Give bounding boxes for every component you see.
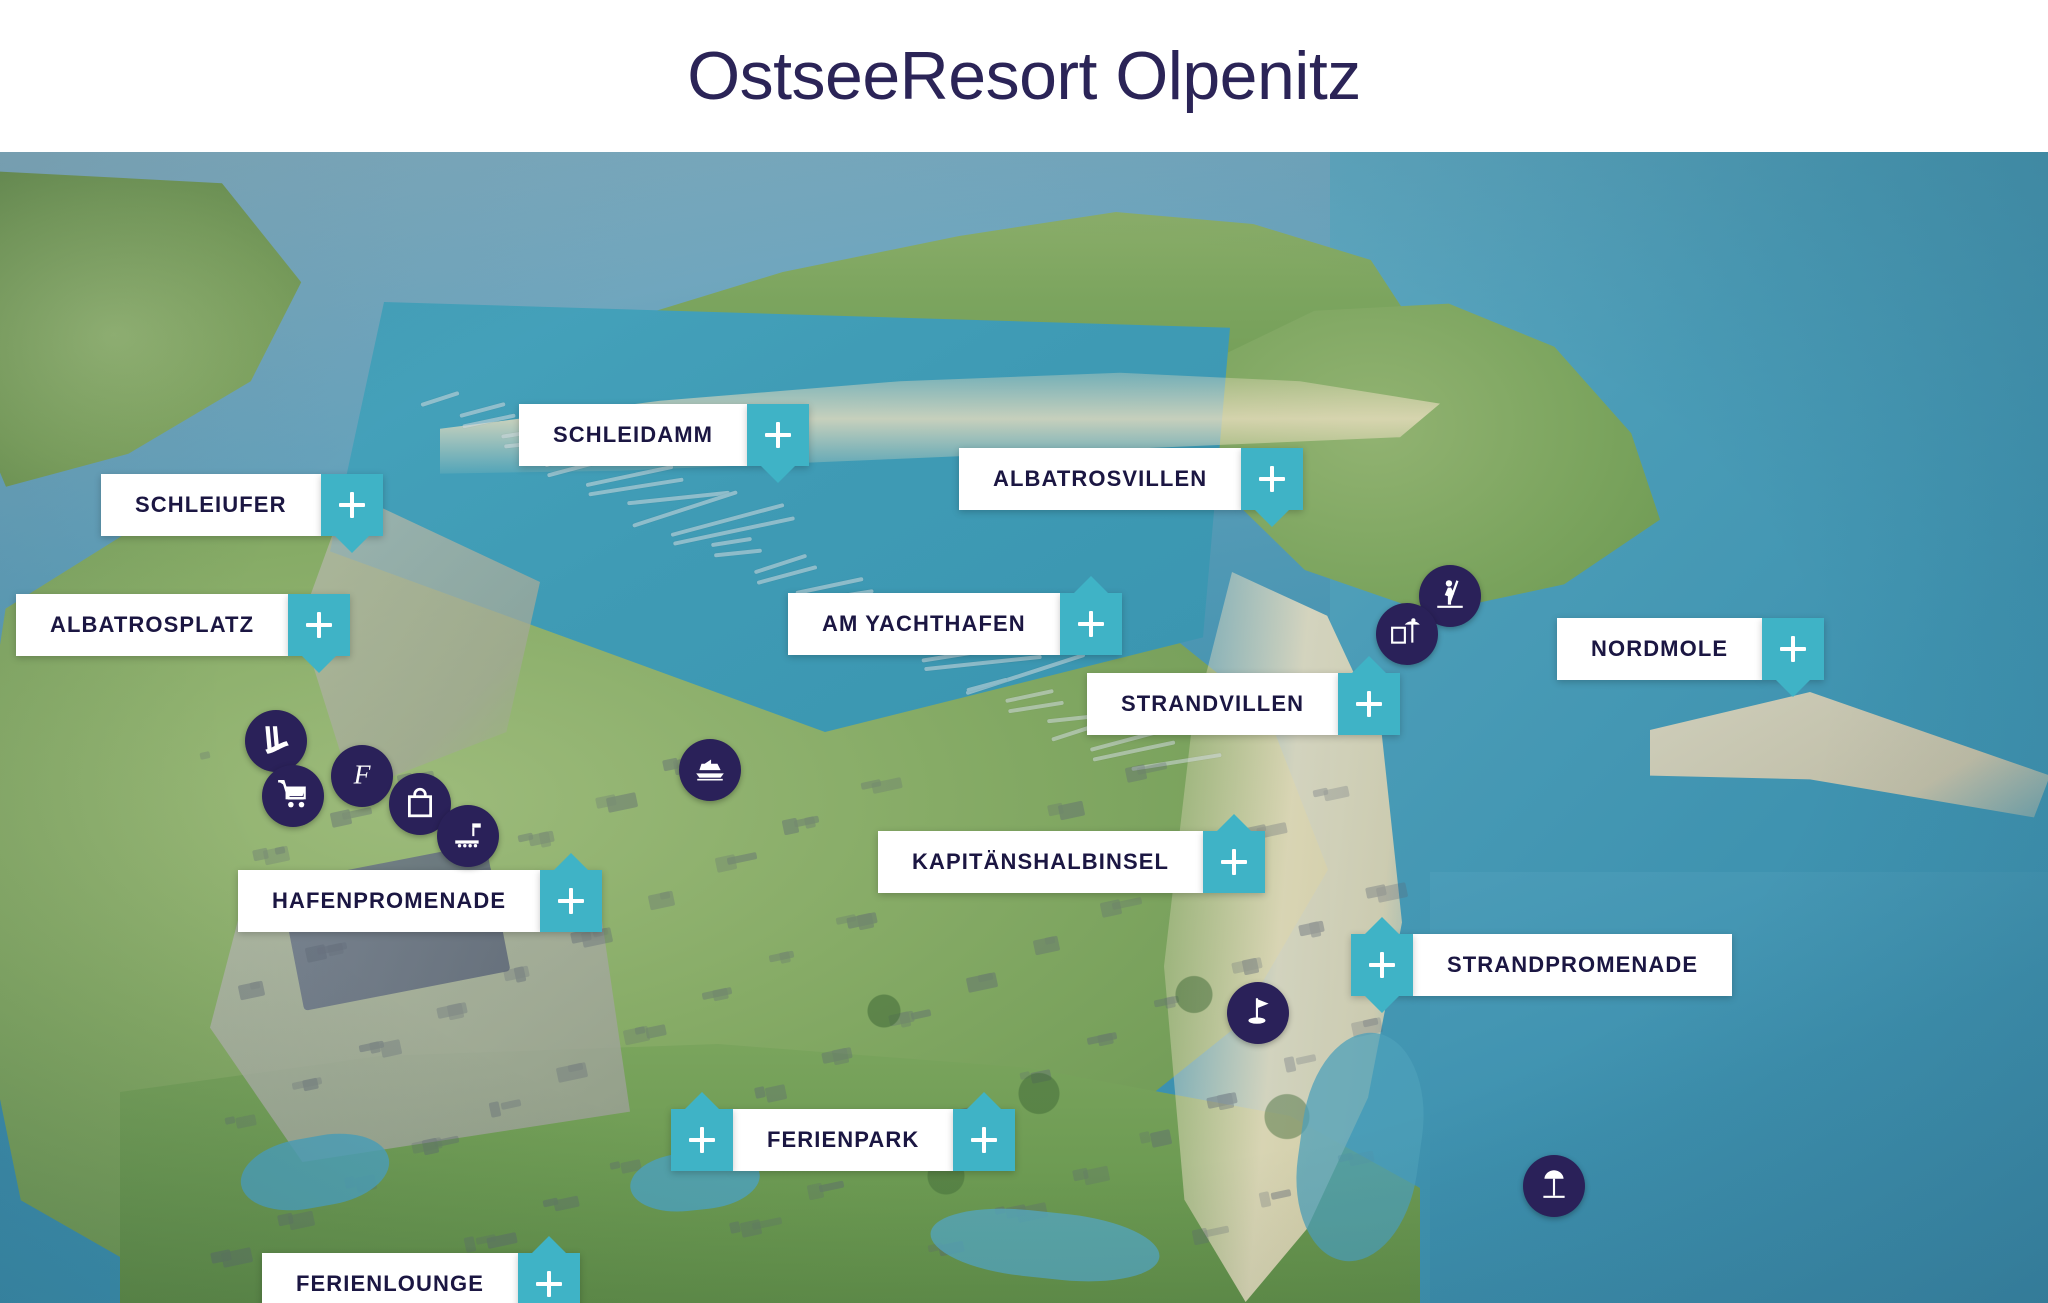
pointer-down-icon [302, 656, 336, 673]
hotspot-label-am-yachthafen: AM YACHTHAFEN [788, 593, 1060, 655]
page-title: OstseeResort Olpenitz [687, 37, 1361, 115]
pointer-up-icon [532, 1236, 566, 1253]
hotspot-kapitaenshalbinsel[interactable]: KAPITÄNSHALBINSEL [878, 831, 1265, 893]
page-root: OstseeResort Olpenitz [0, 0, 2048, 1303]
hotspot-ferienpark[interactable]: FERIENPARK [671, 1109, 1015, 1171]
pointer-up-icon [1217, 814, 1251, 831]
hotspot-label-ferienpark: FERIENPARK [733, 1109, 953, 1171]
plus-button-kapitaenshalbinsel-right[interactable] [1203, 831, 1265, 893]
plus-button-albatrosplatz-right[interactable] [288, 594, 350, 656]
fitness-icon: F [345, 757, 379, 796]
hotspot-label-albatrosplatz: ALBATROSPLATZ [16, 594, 288, 656]
plus-button-schleidamm-right[interactable] [747, 404, 809, 466]
hotspot-label-strandpromenade: STRANDPROMENADE [1413, 934, 1732, 996]
poi-beach-chair[interactable] [1523, 1155, 1585, 1217]
pointer-up-icon [1074, 576, 1108, 593]
hotspot-nordmole[interactable]: NORDMOLE [1557, 618, 1824, 680]
hotspot-ferienlounge[interactable]: FERIENLOUNGE [262, 1253, 580, 1303]
poi-water-slide[interactable] [245, 710, 307, 772]
pointer-up-icon [967, 1092, 1001, 1109]
plus-button-ferienlounge-right[interactable] [518, 1253, 580, 1303]
pointer-down-icon [335, 536, 369, 553]
plus-button-am-yachthafen-right[interactable] [1060, 593, 1122, 655]
pointer-down-icon [1365, 996, 1399, 1013]
shopping-bag-icon [403, 785, 437, 824]
pointer-down-icon [761, 466, 795, 483]
resort-map[interactable]: SCHLEIDAMMSCHLEIUFERALBATROSVILLENALBATR… [0, 152, 2048, 1303]
hotspot-label-kapitaenshalbinsel: KAPITÄNSHALBINSEL [878, 831, 1203, 893]
hotspot-schleidamm[interactable]: SCHLEIDAMM [519, 404, 809, 466]
golf-icon [1241, 994, 1275, 1033]
hotspot-schleiufer[interactable]: SCHLEIUFER [101, 474, 383, 536]
plus-button-schleiufer-right[interactable] [321, 474, 383, 536]
hotspot-hafenpromenade[interactable]: HAFENPROMENADE [238, 870, 602, 932]
plus-button-nordmole-right[interactable] [1762, 618, 1824, 680]
water-slide-icon [259, 722, 293, 761]
hotspot-label-ferienlounge: FERIENLOUNGE [262, 1253, 518, 1303]
page-header: OstseeResort Olpenitz [0, 0, 2048, 152]
plus-button-strandpromenade-left[interactable] [1351, 934, 1413, 996]
plus-button-ferienpark-left[interactable] [671, 1109, 733, 1171]
poi-shopping-cart[interactable] [262, 765, 324, 827]
pointer-up-icon [1352, 656, 1386, 673]
hotspot-albatrosplatz[interactable]: ALBATROSPLATZ [16, 594, 350, 656]
shopping-cart-icon [276, 777, 310, 816]
plus-button-ferienpark-right[interactable] [953, 1109, 1015, 1171]
hotspot-label-strandvillen: STRANDVILLEN [1087, 673, 1338, 735]
hotspot-strandpromenade[interactable]: STRANDPROMENADE [1351, 934, 1732, 996]
pointer-down-icon [1776, 680, 1810, 697]
pointer-up-icon [1365, 917, 1399, 934]
beach-resort-icon [1390, 615, 1424, 654]
map-illustration [0, 152, 2048, 1303]
plus-button-albatrosvillen-right[interactable] [1241, 448, 1303, 510]
beach-chair-icon [1537, 1167, 1571, 1206]
wellness-icon [451, 817, 485, 856]
poi-wellness[interactable] [437, 805, 499, 867]
hotspot-label-albatrosvillen: ALBATROSVILLEN [959, 448, 1241, 510]
hotspot-albatrosvillen[interactable]: ALBATROSVILLEN [959, 448, 1303, 510]
plus-button-strandvillen-right[interactable] [1338, 673, 1400, 735]
poi-fitness[interactable]: F [331, 745, 393, 807]
svg-text:F: F [353, 758, 372, 789]
plus-button-hafenpromenade-right[interactable] [540, 870, 602, 932]
pointer-down-icon [1255, 510, 1289, 527]
pointer-up-icon [685, 1092, 719, 1109]
hotspot-am-yachthafen[interactable]: AM YACHTHAFEN [788, 593, 1122, 655]
hotspot-label-hafenpromenade: HAFENPROMENADE [238, 870, 540, 932]
poi-marina-boat[interactable] [679, 739, 741, 801]
paddle-board-icon [1433, 577, 1467, 616]
tree-cluster [760, 912, 1380, 1242]
hotspot-label-schleidamm: SCHLEIDAMM [519, 404, 747, 466]
pointer-up-icon [554, 853, 588, 870]
poi-golf[interactable] [1227, 982, 1289, 1044]
boat-icon [693, 751, 727, 790]
hotspot-label-schleiufer: SCHLEIUFER [101, 474, 321, 536]
poi-beach-resort[interactable] [1376, 603, 1438, 665]
hotspot-label-nordmole: NORDMOLE [1557, 618, 1762, 680]
hotspot-strandvillen[interactable]: STRANDVILLEN [1087, 673, 1400, 735]
